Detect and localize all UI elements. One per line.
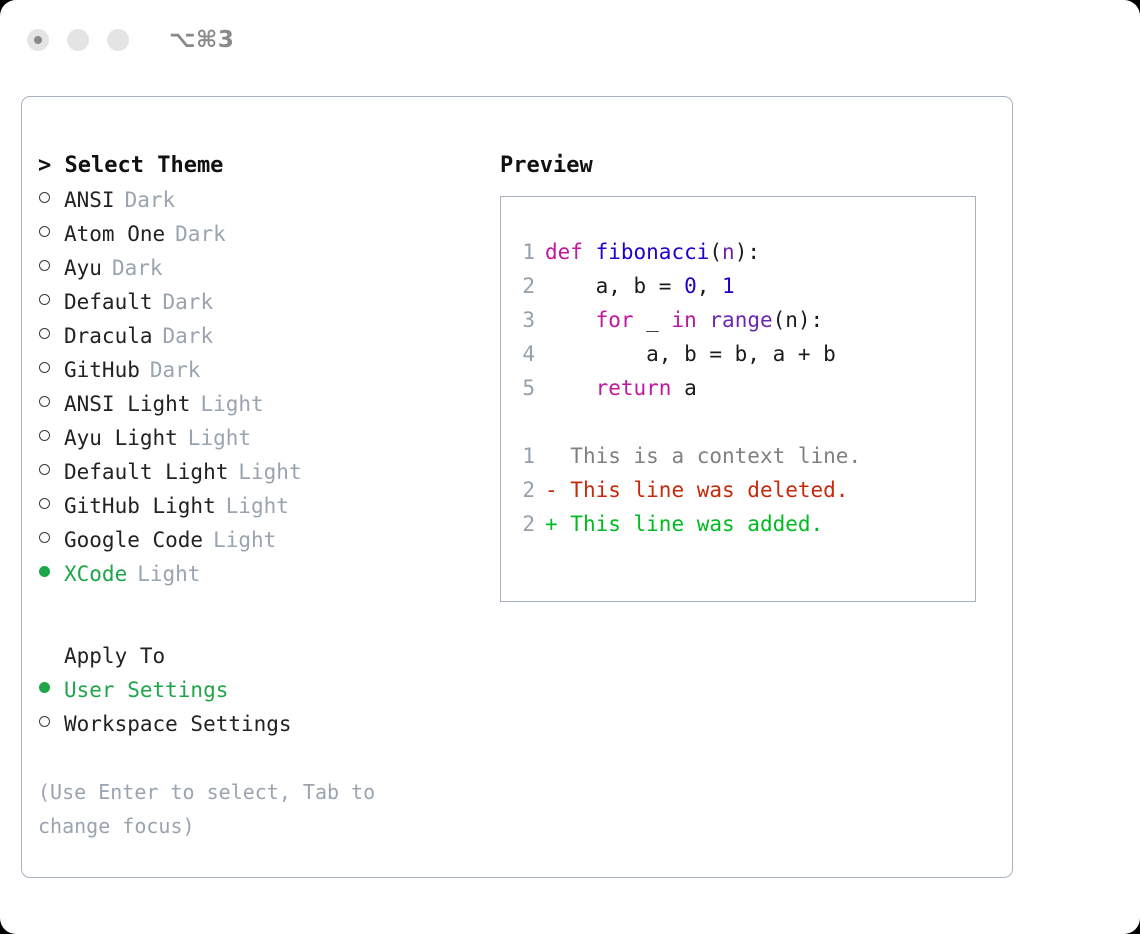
theme-item-atom-one[interactable]: Atom OneDark	[38, 217, 498, 251]
theme-item-label: XCode	[64, 557, 127, 591]
radio-circle	[39, 396, 50, 407]
theme-item-category: Dark	[112, 251, 163, 285]
diff-sign	[545, 439, 558, 473]
code-token: a, b = b, a + b	[545, 342, 836, 366]
theme-item-category: Light	[213, 523, 276, 557]
theme-item-xcode[interactable]: XCodeLight	[38, 557, 498, 591]
theme-item-category: Dark	[125, 183, 176, 217]
code-token: n	[722, 240, 735, 264]
app-window: ⌥⌘3 > Select Theme ANSIDarkAtom OneDarkA…	[0, 0, 1140, 934]
theme-item-category: Dark	[150, 353, 201, 387]
radio-circle	[39, 464, 50, 475]
code-line: 2 a, b = 0, 1	[515, 269, 975, 303]
radio-circle	[39, 716, 50, 727]
code-token: a	[671, 376, 696, 400]
theme-item-label: Ayu	[64, 251, 102, 285]
code-token: 1	[722, 274, 735, 298]
theme-item-category: Light	[200, 387, 263, 421]
code-line-text: for _ in range(n):	[545, 303, 823, 337]
code-token: ,	[697, 274, 722, 298]
preview-code-box: 1def fibonacci(n):2 a, b = 0, 13 for _ i…	[500, 196, 976, 602]
main-panel: > Select Theme ANSIDarkAtom OneDarkAyuDa…	[21, 96, 1013, 878]
theme-item-category: Dark	[175, 217, 226, 251]
radio-circle	[39, 260, 50, 271]
theme-item-category: Light	[226, 489, 289, 523]
apply-to-marker-spacer	[38, 639, 64, 673]
code-token: for	[596, 308, 634, 332]
code-token	[697, 308, 710, 332]
code-token	[545, 308, 596, 332]
theme-item-github-light[interactable]: GitHub LightLight	[38, 489, 498, 523]
diff-sign: -	[545, 473, 558, 507]
theme-item-ansi-light[interactable]: ANSI LightLight	[38, 387, 498, 421]
diff-sign: +	[545, 507, 558, 541]
code-line-number: 3	[515, 303, 545, 337]
code-token: range	[709, 308, 772, 332]
preview-pane: Preview 1def fibonacci(n):2 a, b = 0, 13…	[500, 149, 1000, 602]
theme-list: ANSIDarkAtom OneDarkAyuDarkDefaultDarkDr…	[38, 183, 498, 591]
radio-circle	[39, 498, 50, 509]
code-line-number: 5	[515, 371, 545, 405]
diff-line-ctx: 1 This is a context line.	[515, 439, 975, 473]
theme-item-label: ANSI	[64, 183, 115, 217]
section-spacer	[38, 591, 498, 639]
code-token: (	[709, 240, 722, 264]
apply-to-option-label: Workspace Settings	[64, 707, 292, 741]
radio-circle	[39, 192, 50, 203]
diff-line-text: This line was deleted.	[558, 473, 849, 507]
theme-item-category: Light	[188, 421, 251, 455]
code-line-text: def fibonacci(n):	[545, 235, 760, 269]
theme-item-category: Light	[137, 557, 200, 591]
code-line: 3 for _ in range(n):	[515, 303, 975, 337]
diff-line-number: 2	[515, 507, 545, 541]
apply-to-options: User SettingsWorkspace Settings	[38, 673, 498, 741]
code-token: ):	[735, 240, 760, 264]
apply-to-option-label: User Settings	[64, 673, 228, 707]
radio-circle	[39, 226, 50, 237]
diff-sample: 1 This is a context line.2- This line wa…	[515, 439, 975, 541]
theme-item-label: GitHub	[64, 353, 140, 387]
apply-to-option-workspace-settings[interactable]: Workspace Settings	[38, 707, 498, 741]
keyboard-hint: (Use Enter to select, Tab to change focu…	[38, 775, 438, 843]
code-token: return	[596, 376, 672, 400]
theme-item-label: Dracula	[64, 319, 153, 353]
code-token	[583, 240, 596, 264]
diff-line-add: 2+ This line was added.	[515, 507, 975, 541]
diff-line-number: 2	[515, 473, 545, 507]
window-dot-active[interactable]	[27, 29, 49, 51]
code-token: def	[545, 240, 583, 264]
code-token: in	[671, 308, 696, 332]
diff-line-text: This is a context line.	[558, 439, 861, 473]
theme-item-default-light[interactable]: Default LightLight	[38, 455, 498, 489]
radio-circle	[39, 294, 50, 305]
theme-item-label: Ayu Light	[64, 421, 178, 455]
theme-item-label: ANSI Light	[64, 387, 190, 421]
theme-item-ayu-light[interactable]: Ayu LightLight	[38, 421, 498, 455]
theme-item-category: Dark	[163, 319, 214, 353]
code-diff-spacer	[515, 405, 975, 439]
window-dot-2[interactable]	[67, 29, 89, 51]
code-line: 4 a, b = b, a + b	[515, 337, 975, 371]
theme-item-category: Light	[238, 455, 301, 489]
theme-item-dracula[interactable]: DraculaDark	[38, 319, 498, 353]
code-line-text: return a	[545, 371, 697, 405]
keyboard-shortcut-label: ⌥⌘3	[169, 27, 234, 53]
code-line-text: a, b = 0, 1	[545, 269, 735, 303]
apply-to-header: Apply To	[38, 639, 498, 673]
code-token: a, b =	[545, 274, 684, 298]
code-line: 5 return a	[515, 371, 975, 405]
diff-line-number: 1	[515, 439, 545, 473]
select-theme-header: > Select Theme	[38, 149, 498, 183]
radio-circle	[39, 566, 50, 577]
code-token: fibonacci	[596, 240, 710, 264]
code-line-number: 2	[515, 269, 545, 303]
apply-to-header-label: Apply To	[64, 639, 165, 673]
radio-circle	[39, 532, 50, 543]
theme-item-category: Dark	[163, 285, 214, 319]
window-dot-3[interactable]	[107, 29, 129, 51]
apply-to-option-user-settings[interactable]: User Settings	[38, 673, 498, 707]
theme-selector: > Select Theme ANSIDarkAtom OneDarkAyuDa…	[38, 149, 498, 843]
code-line-number: 4	[515, 337, 545, 371]
code-line-text: a, b = b, a + b	[545, 337, 836, 371]
radio-circle	[39, 328, 50, 339]
theme-item-ayu[interactable]: AyuDark	[38, 251, 498, 285]
theme-item-label: Atom One	[64, 217, 165, 251]
theme-item-label: Default	[64, 285, 153, 319]
theme-item-google-code[interactable]: Google CodeLight	[38, 523, 498, 557]
preview-title: Preview	[500, 149, 1000, 183]
radio-circle	[39, 430, 50, 441]
diff-line-text: This line was added.	[558, 507, 824, 541]
window-dot-active-inner	[34, 36, 42, 44]
code-token	[545, 376, 596, 400]
theme-item-default[interactable]: DefaultDark	[38, 285, 498, 319]
code-token: (n):	[773, 308, 824, 332]
diff-line-del: 2- This line was deleted.	[515, 473, 975, 507]
theme-item-label: GitHub Light	[64, 489, 216, 523]
code-sample: 1def fibonacci(n):2 a, b = 0, 13 for _ i…	[515, 235, 975, 405]
radio-circle	[39, 362, 50, 373]
radio-circle	[39, 682, 50, 693]
code-line: 1def fibonacci(n):	[515, 235, 975, 269]
theme-item-github[interactable]: GitHubDark	[38, 353, 498, 387]
theme-item-label: Google Code	[64, 523, 203, 557]
theme-item-ansi[interactable]: ANSIDark	[38, 183, 498, 217]
title-bar: ⌥⌘3	[0, 0, 1140, 80]
code-token: 0	[684, 274, 697, 298]
code-line-number: 1	[515, 235, 545, 269]
code-token: _	[634, 308, 672, 332]
theme-item-label: Default Light	[64, 455, 228, 489]
